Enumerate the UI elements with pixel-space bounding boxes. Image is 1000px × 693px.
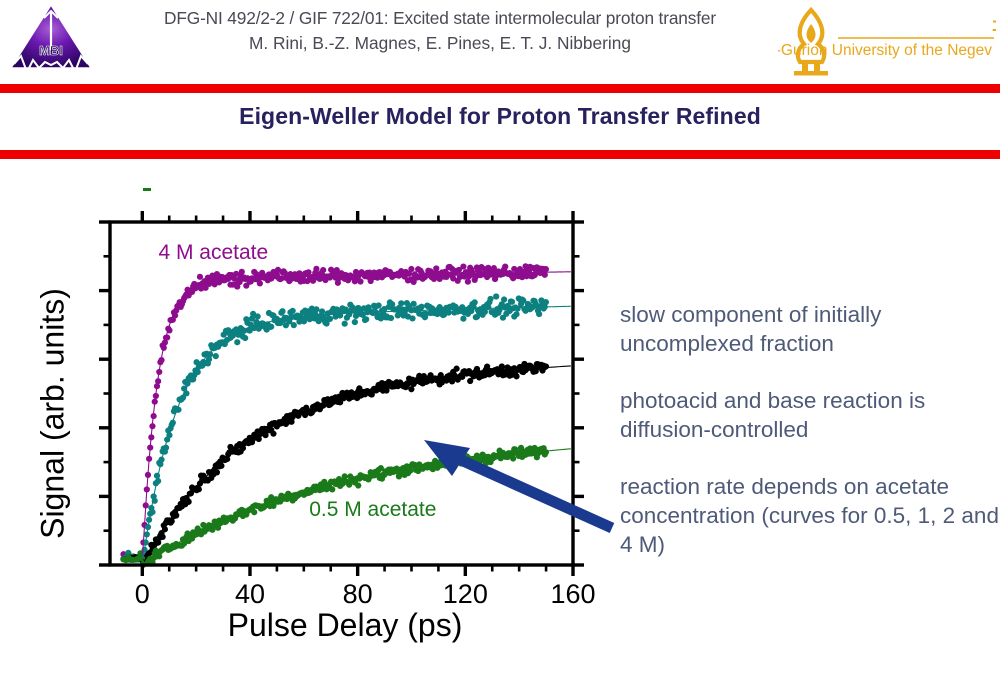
x-tick-label: 80 xyxy=(343,579,373,609)
annotation-list: slow component of initially uncomplexed … xyxy=(620,300,1000,559)
slide-header: MBI DFG-NI 492/2-2 / GIF 722/01: Excited… xyxy=(0,0,1000,84)
mbi-logo: MBI xyxy=(8,2,94,78)
grant-line: DFG-NI 492/2-2 / GIF 722/01: Excited sta… xyxy=(110,6,770,31)
bgu-hebrew-text: אוניברסיטת בן-גוריון בנגב xyxy=(992,16,996,35)
red-rule-top xyxy=(0,84,1000,93)
mbi-logo-text: MBI xyxy=(39,43,63,58)
stray-green-mark xyxy=(143,188,151,191)
scatter-plot: 04080120160 4 M acetate0.5 M acetate xyxy=(0,170,600,610)
page-title: Eigen-Weller Model for Proton Transfer R… xyxy=(0,103,1000,130)
annotation-item-0: slow component of initially uncomplexed … xyxy=(620,300,1000,358)
bgu-english-text: Ben-Gurion University of the Negev xyxy=(778,42,992,59)
x-axis-label: Pulse Delay (ps) xyxy=(110,607,580,644)
x-tick-label: 120 xyxy=(443,579,488,609)
x-tick-label: 0 xyxy=(135,579,150,609)
header-text-block: DFG-NI 492/2-2 / GIF 722/01: Excited sta… xyxy=(110,6,770,56)
x-tick-label: 40 xyxy=(235,579,265,609)
red-rule-bottom xyxy=(0,150,1000,159)
x-tick-label: 160 xyxy=(550,579,595,609)
figure-panel: Signal (arb. units) Pulse Delay (ps) 040… xyxy=(0,170,600,670)
annotation-item-2: reaction rate depends on acetate concent… xyxy=(620,472,1000,559)
bgu-logo: אוניברסיטת בן-גוריון בנגב Ben-Gurion Uni… xyxy=(778,4,996,78)
annotation-item-1: photoacid and base reaction is diffusion… xyxy=(620,386,1000,444)
series-label-0.5M: 0.5 M acetate xyxy=(309,498,436,521)
series-label-4M: 4 M acetate xyxy=(158,241,268,264)
authors-line: M. Rini, B.-Z. Magnes, E. Pines, E. T. J… xyxy=(110,31,770,56)
